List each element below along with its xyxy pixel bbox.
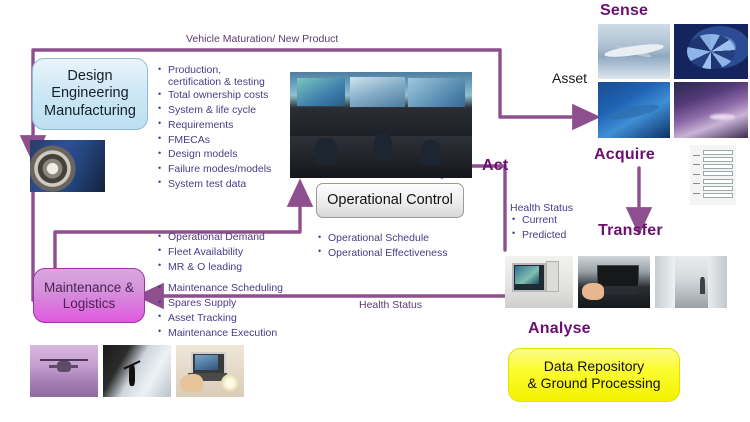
heading-sense: Sense — [600, 2, 648, 20]
heading-analyse: Analyse — [528, 320, 591, 338]
submarine-photo — [598, 82, 670, 138]
flow-label-health-status: Health Status — [359, 299, 422, 311]
vehicle-photo — [674, 82, 748, 138]
laptop-typing-photo — [578, 256, 650, 308]
helicopter-photo — [30, 345, 98, 397]
node-design-line-2: Engineering — [44, 85, 136, 102]
handheld-device-photo — [176, 345, 244, 397]
heading-acquire: Acquire — [594, 146, 655, 164]
bullet-design-6: Failure modes/models — [158, 163, 298, 176]
bullet-maint-g1-2: MR & O leading — [158, 261, 318, 274]
node-design-engineering-manufacturing[interactable]: Design Engineering Manufacturing — [32, 58, 148, 130]
node-design-line-3: Manufacturing — [44, 103, 136, 120]
bullet-maint-g2-3: Maintenance Execution — [158, 327, 318, 340]
bullet-maint-g2-2: Asset Tracking — [158, 312, 318, 325]
label-health-status-heading: Health Status — [510, 202, 573, 214]
bullet-design-0a: Production, — [168, 64, 221, 76]
node-repository-line-2: & Ground Processing — [527, 375, 660, 392]
node-design-line-1: Design — [44, 68, 136, 85]
heading-transfer: Transfer — [598, 222, 663, 240]
cad-workstation-photo — [505, 256, 573, 308]
maintainer-photo — [103, 345, 171, 397]
bullet-maint-g2-0: Maintenance Scheduling — [158, 282, 318, 295]
node-maintenance-line-1: Maintenance & — [44, 280, 134, 296]
control-room-photo — [290, 72, 472, 178]
bullet-design-4: FMECAs — [158, 134, 298, 147]
bullet-list-maintenance: Operational Demand Fleet Availability MR… — [158, 231, 318, 342]
bullet-design-7: System test data — [158, 178, 298, 191]
bullet-list-design: Production, certification & testing Tota… — [158, 64, 298, 193]
engine-nacelle-photo — [30, 140, 105, 192]
bullet-operational-1: Operational Effectiveness — [318, 247, 488, 260]
flow-label-vehicle-maturation: Vehicle Maturation/ New Product — [186, 33, 338, 45]
bullet-design-5: Design models — [158, 148, 298, 161]
node-operational-control[interactable]: Operational Control — [316, 183, 464, 218]
label-asset: Asset — [552, 70, 587, 86]
bullet-list-operational: Operational Schedule Operational Effecti… — [318, 232, 488, 262]
bullet-maint-g1-0: Operational Demand — [158, 231, 318, 244]
bullet-list-health-status: Current Predicted — [512, 214, 602, 244]
server-corridor-photo — [655, 256, 727, 308]
node-data-repository[interactable]: Data Repository & Ground Processing — [508, 348, 680, 402]
diagram-canvas: Vehicle Maturation/ New Product Design E… — [0, 0, 750, 422]
bullet-design-0b: certification & testing — [168, 76, 265, 88]
bullet-maint-g1-1: Fleet Availability — [158, 246, 318, 259]
bullet-health-0: Current — [512, 214, 602, 227]
node-repository-line-1: Data Repository — [527, 358, 660, 375]
bullet-design-1: Total ownership costs — [158, 89, 298, 102]
heading-act: Act — [482, 157, 508, 175]
bullet-operational-0: Operational Schedule — [318, 232, 488, 245]
bullet-design-2: System & life cycle — [158, 104, 298, 117]
node-maintenance-line-2: Logistics — [44, 296, 134, 312]
airliner-in-flight-photo — [598, 24, 670, 79]
bullet-maint-g2-1: Spares Supply — [158, 297, 318, 310]
data-chart-photo — [690, 145, 736, 205]
node-maintenance-logistics[interactable]: Maintenance & Logistics — [33, 268, 145, 323]
bullet-health-1: Predicted — [512, 229, 602, 242]
turbofan-engine-photo — [674, 24, 748, 79]
bullet-design-3: Requirements — [158, 119, 298, 132]
